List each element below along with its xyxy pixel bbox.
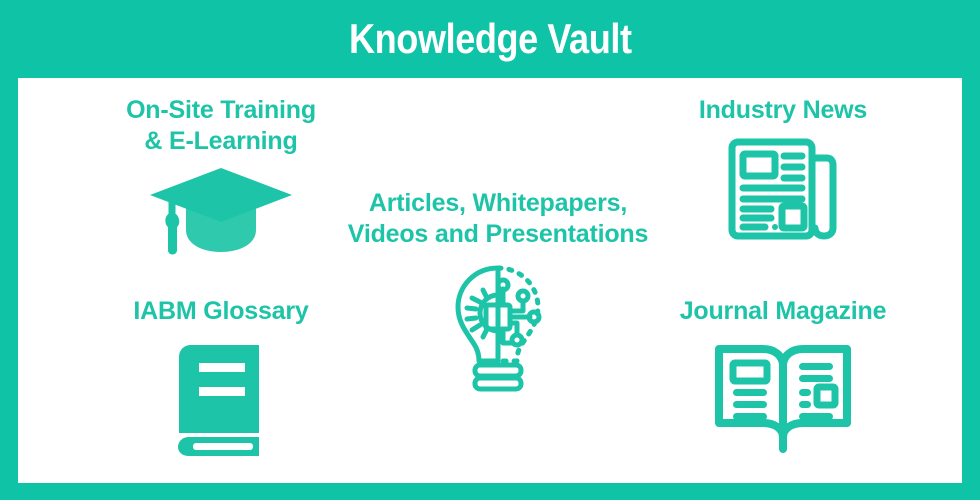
tile-label-line2: & E-Learning: [144, 126, 297, 157]
content-panel: On-Site Training & E-Learning Industry N…: [18, 78, 962, 483]
graduation-cap-icon: [146, 164, 296, 260]
page-title: Knowledge Vault: [349, 18, 632, 60]
tile-iabm-glossary[interactable]: IABM Glossary: [82, 296, 360, 459]
knowledge-vault-graphic: Knowledge Vault On-Site Training & E-Lea…: [0, 0, 980, 500]
tile-journal-magazine[interactable]: Journal Magazine: [618, 296, 948, 457]
newspaper-icon: [727, 136, 839, 242]
header-banner: Knowledge Vault: [0, 0, 980, 78]
tile-label-line1: Journal Magazine: [680, 296, 887, 327]
open-book-icon: [711, 337, 855, 457]
tile-label-line2: Videos and Presentations: [348, 219, 648, 250]
tile-label-line1: On-Site Training: [126, 95, 316, 126]
lightbulb-gear-circuit-icon: [445, 261, 551, 397]
tile-label-line1: Articles, Whitepapers,: [369, 188, 627, 219]
tile-label-line1: IABM Glossary: [133, 296, 308, 327]
tile-label-line1: Industry News: [699, 95, 867, 126]
closed-book-icon: [173, 339, 269, 459]
